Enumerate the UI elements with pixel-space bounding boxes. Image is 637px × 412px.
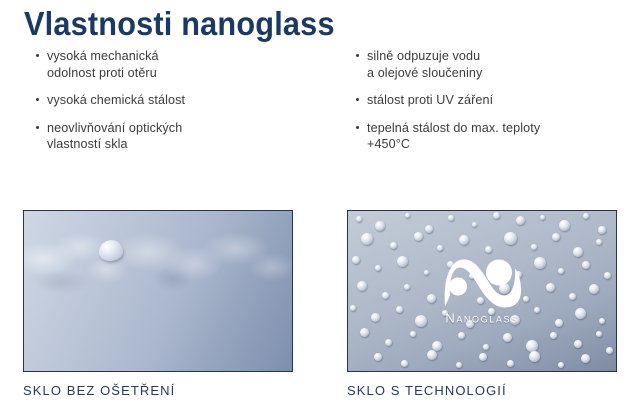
water-droplet (599, 318, 605, 324)
bullet-icon (356, 54, 359, 57)
water-droplet (425, 225, 433, 233)
water-droplet (582, 261, 590, 269)
bullet-icon (36, 54, 39, 57)
feature-text: silně odpuzuje vodu a olejové sloučeniny (367, 48, 637, 81)
water-droplet (515, 271, 522, 278)
water-droplet (589, 284, 599, 294)
water-droplet (371, 313, 380, 322)
water-droplet (374, 353, 382, 361)
feature-text: tepelná stálost do max. teploty +450°C (367, 120, 637, 153)
water-droplet (546, 283, 555, 292)
water-droplet (503, 333, 512, 342)
water-droplet (454, 288, 459, 293)
water-droplet (375, 221, 385, 231)
water-droplet (581, 354, 590, 363)
bullet-icon (356, 126, 359, 129)
water-droplet (361, 233, 373, 245)
water-droplet (604, 272, 611, 279)
water-droplet (414, 232, 423, 241)
water-droplet (483, 344, 489, 350)
water-droplet (375, 265, 381, 271)
water-droplet (507, 360, 514, 367)
list-item: vysoká chemická stálost (36, 92, 340, 109)
water-droplet (357, 281, 367, 291)
water-droplet (493, 212, 500, 219)
water-droplet (598, 226, 606, 234)
water-droplet (456, 362, 462, 368)
water-droplet (573, 247, 583, 257)
feature-text: vysoká mechanická odolnost proti otěru (47, 48, 340, 81)
water-droplet (427, 350, 437, 360)
water-droplet (529, 351, 540, 362)
water-droplet (531, 244, 537, 250)
feature-list-right: silně odpuzuje vodu a olejové sloučeniny… (340, 48, 637, 164)
water-droplet (448, 215, 454, 221)
list-item: vysoká mechanická odolnost proti otěru (36, 48, 340, 81)
bullet-icon (36, 126, 39, 129)
bullet-icon (36, 98, 39, 101)
feature-text: neovlivňování optických vlastností skla (47, 120, 340, 153)
panel-caption-untreated: SKLO BEZ OŠETŘENÍ (23, 383, 293, 398)
treated-glass-image: Nanoglass (347, 210, 617, 372)
water-droplet (410, 331, 416, 337)
water-droplet (447, 261, 454, 268)
water-droplet (458, 332, 465, 339)
water-droplet (558, 362, 564, 368)
water-droplet (415, 315, 427, 327)
water-droplet (555, 319, 563, 327)
water-droplet (534, 307, 540, 313)
water-droplet (479, 353, 487, 361)
water-droplet (596, 331, 602, 337)
water-droplet (558, 268, 564, 274)
water-beading-texture (348, 211, 616, 371)
water-droplet (469, 273, 475, 279)
list-item: neovlivňování optických vlastností skla (36, 120, 340, 153)
water-droplet (404, 284, 410, 290)
water-droplet (385, 339, 392, 346)
water-droplet (352, 256, 360, 264)
water-droplet (442, 310, 448, 316)
untreated-glass-image (23, 210, 293, 372)
water-droplet (552, 233, 560, 241)
panel-caption-treated: SKLO S TECHNOLOGIÍ (347, 383, 617, 398)
water-droplet (488, 308, 495, 315)
water-droplet (534, 257, 546, 269)
water-droplet (432, 341, 442, 351)
features-section: vysoká mechanická odolnost proti otěru v… (0, 48, 637, 164)
water-droplet (390, 242, 397, 249)
water-droplet (396, 306, 403, 313)
water-droplet (550, 332, 557, 339)
bullet-icon (356, 98, 359, 101)
water-droplet (360, 328, 369, 337)
water-droplet (575, 308, 586, 319)
water-film-texture (24, 211, 292, 371)
feature-text: stálost proti UV záření (367, 92, 637, 109)
list-item: stálost proti UV záření (356, 92, 637, 109)
water-droplet (437, 245, 443, 251)
water-droplet (485, 246, 492, 253)
water-droplet (427, 294, 436, 303)
water-droplet (540, 215, 545, 220)
panel-treated-glass: Nanoglass SKLO S TECHNOLOGIÍ (347, 210, 617, 398)
water-droplet (606, 347, 613, 354)
feature-text: vysoká chemická stálost (47, 92, 340, 109)
water-droplet (596, 239, 602, 245)
water-droplet (382, 292, 389, 299)
page-title: Vlastnosti nanoglass (24, 4, 335, 44)
water-droplet (472, 222, 477, 227)
list-item: tepelná stálost do max. teploty +450°C (356, 120, 637, 153)
water-droplet (489, 262, 498, 271)
water-droplet (583, 213, 589, 219)
water-droplet (510, 315, 520, 325)
water-droplet (424, 270, 429, 275)
list-item: silně odpuzuje vodu a olejové sloučeniny (356, 48, 637, 81)
water-droplet (401, 360, 408, 367)
water-droplet (459, 235, 469, 245)
water-droplet (504, 232, 517, 245)
water-droplet (516, 216, 525, 225)
feature-list-left: vysoká mechanická odolnost proti otěru v… (0, 48, 340, 164)
water-droplet (466, 320, 474, 328)
water-droplet (574, 340, 582, 348)
water-droplet (356, 216, 362, 222)
water-droplet (477, 297, 484, 304)
water-droplet (569, 293, 576, 300)
water-droplet (397, 256, 408, 267)
water-droplet (499, 283, 510, 294)
water-droplet (405, 213, 410, 218)
water-droplet (559, 220, 570, 231)
water-droplet (523, 296, 529, 302)
water-droplet (350, 305, 356, 311)
water-droplet (526, 340, 538, 352)
panel-untreated-glass: SKLO BEZ OŠETŘENÍ (23, 210, 293, 398)
